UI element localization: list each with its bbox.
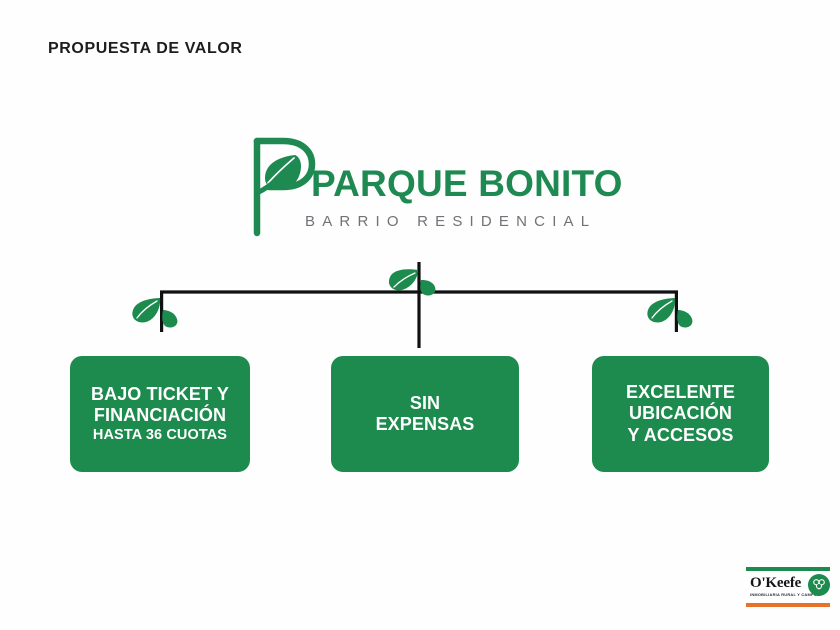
logo-top-bar <box>746 567 830 571</box>
brand-wordmark: PARQUE BONITO <box>311 163 623 205</box>
leaf-sprig-icon-left <box>132 298 177 328</box>
logo-bottom-bar <box>746 603 830 607</box>
value-card-excelente-ubicacion-y-accesos[interactable]: EXCELENTE UBICACIÓN Y ACCESOS <box>592 356 769 472</box>
brand-lockup: PARQUE BONITO BARRIO RESIDENCIAL <box>243 133 603 243</box>
slide-canvas: PROPUESTA DE VALOR PARQUE BONITO BARRIO … <box>0 0 840 630</box>
card-line: BAJO TICKET Y <box>91 384 229 405</box>
card-line: FINANCIACIÓN <box>94 405 226 426</box>
value-card-bajo-ticket-y-financiacion[interactable]: BAJO TICKET Y FINANCIACIÓN HASTA 36 CUOT… <box>70 356 250 472</box>
value-card-sin-expensas[interactable]: SIN EXPENSAS <box>331 356 519 472</box>
card-line: EXCELENTE <box>626 382 735 403</box>
page-title: PROPUESTA DE VALOR <box>48 40 243 58</box>
card-line: EXPENSAS <box>376 414 475 435</box>
card-line: Y ACCESOS <box>628 425 734 446</box>
okeefe-shamrock-globe-icon <box>807 573 831 597</box>
card-line: UBICACIÓN <box>629 403 732 424</box>
brand-subtitle: BARRIO RESIDENCIAL <box>305 213 596 230</box>
card-subline: HASTA 36 CUOTAS <box>93 427 227 444</box>
okeefe-corner-logo: O'Keefe INMOBILIARIA RURAL Y CAMPOS <box>744 567 832 609</box>
connector-bracket <box>120 248 720 363</box>
leaf-sprig-icon-right <box>647 298 692 328</box>
card-line: SIN <box>410 393 440 414</box>
okeefe-logo-name: O'Keefe <box>750 575 801 592</box>
